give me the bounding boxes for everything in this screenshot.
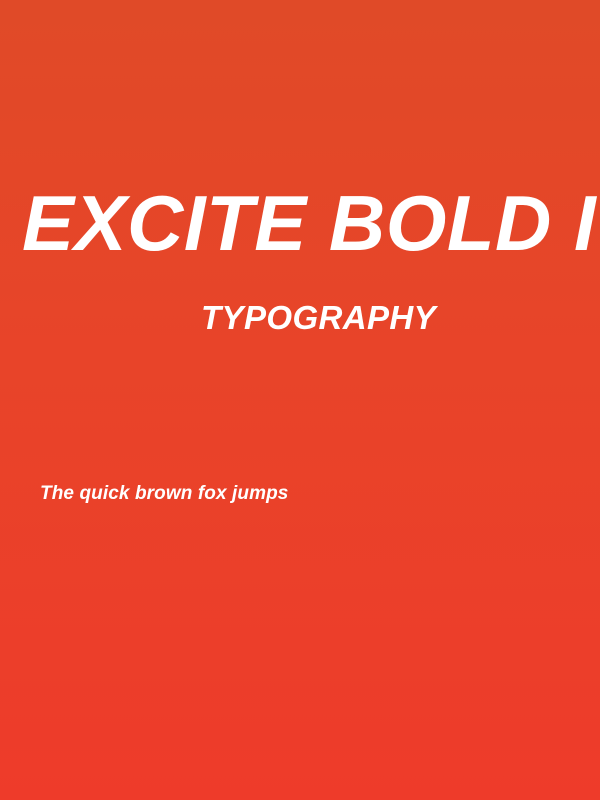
typography-specimen-card: EXCITE BOLD ITALIC TYPOGRAPHY The quick … — [0, 0, 600, 800]
headline-text: EXCITE BOLD ITALIC — [22, 173, 600, 273]
subtitle-text: TYPOGRAPHY — [201, 298, 436, 338]
body-sample-text: The quick brown fox jumps — [40, 481, 288, 507]
headline-clip-row: EXCITE BOLD ITALIC — [0, 173, 600, 273]
